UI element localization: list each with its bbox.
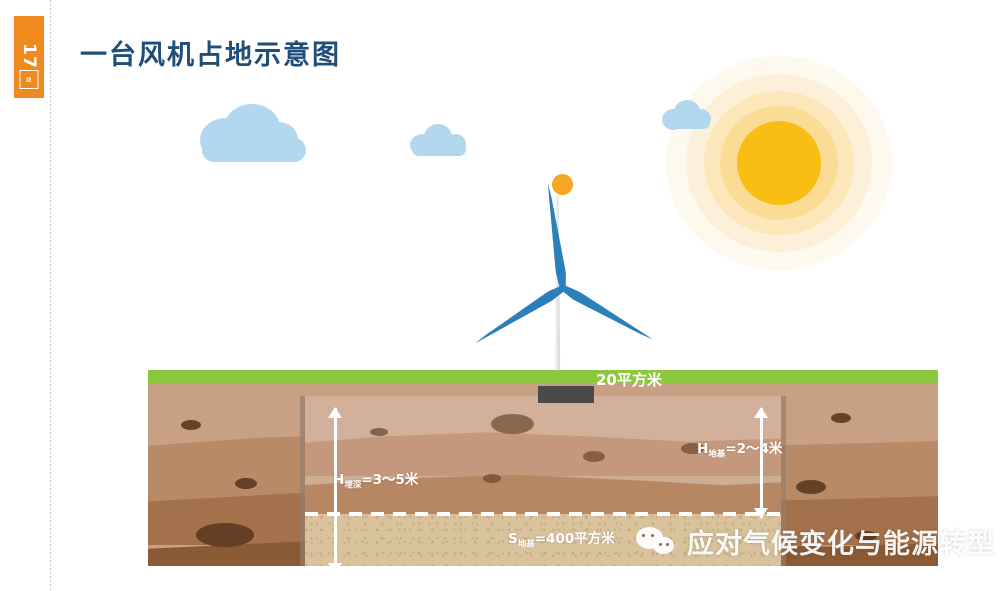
- sun-icon: [666, 56, 892, 270]
- turbine-base-block: [538, 386, 594, 403]
- stone: [583, 451, 605, 462]
- stone: [196, 523, 254, 547]
- stone: [491, 414, 534, 434]
- stone: [370, 428, 388, 436]
- surface-area-label: 20平方米: [596, 369, 662, 390]
- foundation-area-symbol: S: [508, 531, 518, 547]
- foundation-area-subscript: 地基: [518, 540, 535, 550]
- depth-right-label: H地基=2～4米: [697, 437, 782, 460]
- depth-right-symbol: H: [697, 441, 708, 457]
- turbine-hub: [552, 174, 573, 195]
- depth-right-value: =2～4米: [725, 441, 782, 457]
- foundation-area-label: S地基=400平方米: [508, 527, 615, 550]
- sky-scene: [0, 0, 1000, 380]
- depth-left-label: H埋深=3～5米: [333, 468, 418, 491]
- cloud-icon: [410, 124, 468, 156]
- wechat-icon: [636, 527, 678, 557]
- stone: [235, 478, 257, 489]
- grass-surface: [148, 370, 938, 383]
- depth-left-subscript: 埋深: [344, 481, 361, 491]
- turbine-blade: [543, 182, 568, 288]
- foundation-area-value: =400平方米: [535, 531, 615, 547]
- slide-canvas: 17 ▨ 一台风机占地示意图: [0, 0, 1000, 591]
- depth-left-symbol: H: [333, 472, 344, 488]
- stone: [483, 474, 501, 483]
- sun-core: [737, 121, 821, 205]
- depth-left-value: =3～5米: [361, 472, 418, 488]
- foundation-level-dashed-line: [305, 512, 781, 516]
- depth-arrow-right: [760, 408, 763, 518]
- turbine-blade: [561, 284, 656, 345]
- depth-right-subscript: 地基: [708, 450, 725, 460]
- wind-turbine-icon: [466, 86, 656, 386]
- turbine-blade: [472, 284, 565, 348]
- cloud-icon: [198, 102, 308, 158]
- watermark: 应对气候变化与能源转型: [636, 522, 995, 561]
- watermark-text: 应对气候变化与能源转型: [687, 522, 995, 561]
- stone: [181, 420, 201, 430]
- stone: [796, 480, 826, 494]
- cloud-icon: [662, 100, 712, 130]
- stone: [831, 413, 851, 423]
